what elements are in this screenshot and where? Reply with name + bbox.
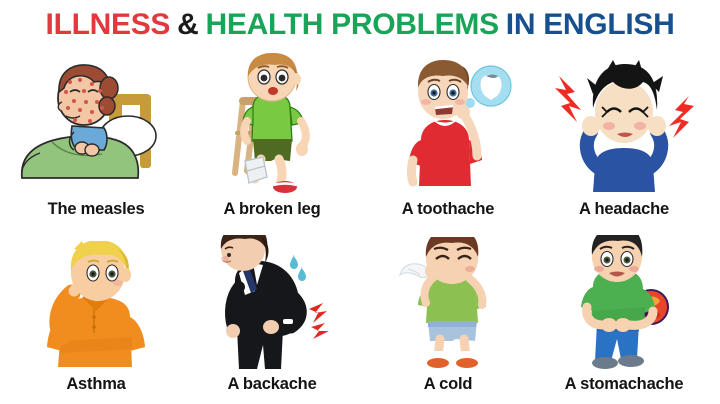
card-a-backache[interactable]: A backache [184,223,360,400]
card-label-a-headache: A headache [579,198,669,223]
card-asthma[interactable]: Asthma [8,223,184,400]
card-a-headache[interactable]: A headache [536,46,712,223]
illustration-measles [8,46,184,198]
card-the-measles[interactable]: The measles [8,46,184,223]
page-title: ILLNESS & HEALTH PROBLEMS IN ENGLISH [0,0,720,46]
card-label-asthma: Asthma [66,373,125,400]
illustration-broken-leg [184,46,360,198]
illustration-toothache [360,46,536,198]
card-label-a-broken-leg: A broken leg [224,198,321,223]
card-label-a-toothache: A toothache [402,198,495,223]
card-a-stomachache[interactable]: A stomachache [536,223,712,400]
card-a-cold[interactable]: A cold [360,223,536,400]
card-label-a-stomachache: A stomachache [565,373,684,400]
vocabulary-grid: The measles [0,46,720,404]
card-a-broken-leg[interactable]: A broken leg [184,46,360,223]
illustration-backache [184,223,360,373]
illustration-headache [536,46,712,198]
card-a-toothache[interactable]: A toothache [360,46,536,223]
title-segment-in-english: IN ENGLISH [506,10,675,40]
illustration-asthma [8,223,184,373]
card-label-the-measles: The measles [48,198,145,223]
card-label-a-backache: A backache [227,373,316,400]
title-segment-health-problems: HEALTH PROBLEMS [206,10,499,40]
title-segment-ampersand: & [177,10,198,40]
illustration-stomachache [536,223,712,373]
card-label-a-cold: A cold [424,373,473,400]
illness-vocabulary-poster: ILLNESS & HEALTH PROBLEMS IN ENGLISH [0,0,720,404]
illustration-cold [360,223,536,373]
title-segment-illness: ILLNESS [46,10,171,40]
